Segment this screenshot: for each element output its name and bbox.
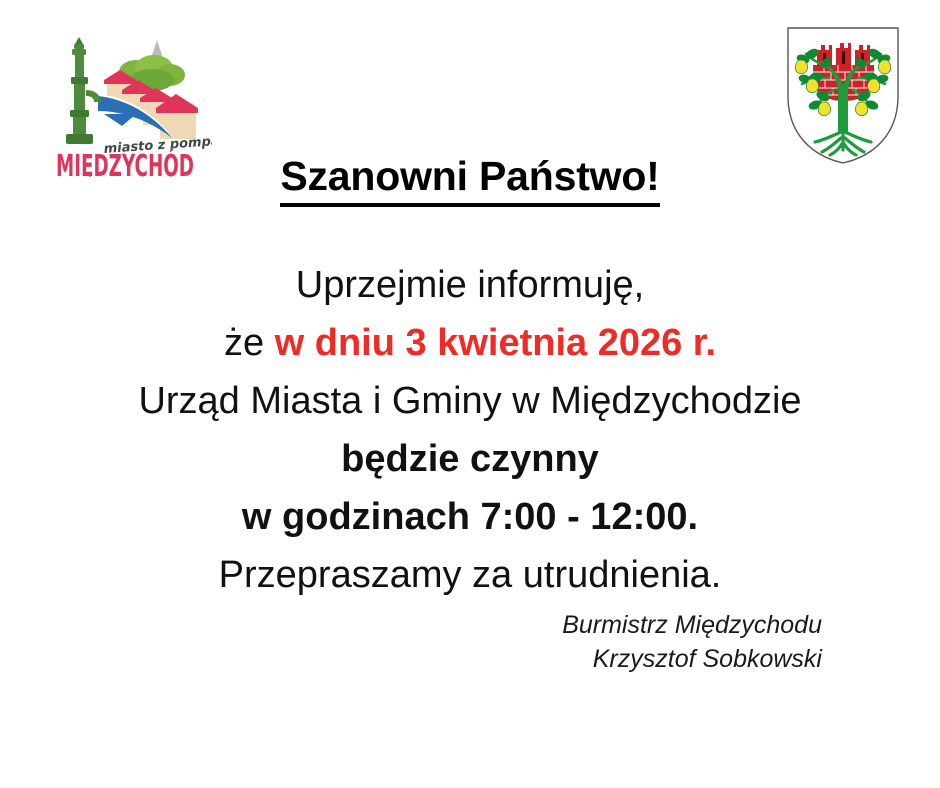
notice-date-highlight: w dniu 3 kwietnia 2026 r. <box>275 322 716 364</box>
notice-line-5: w godzinach 7:00 - 12:00. <box>0 488 940 546</box>
page-title-text: Szanowni Państwo! <box>280 153 659 207</box>
notice-line-2-prefix: że <box>224 322 275 364</box>
notice-line-6: Przepraszamy za utrudnienia. <box>0 546 940 604</box>
signature-name: Krzysztof Sobkowski <box>0 642 822 676</box>
notice-line-2: że w dniu 3 kwietnia 2026 r. <box>0 314 940 372</box>
page-title: Szanowni Państwo! <box>0 153 940 207</box>
notice-body: Uprzejmie informuję, że w dniu 3 kwietni… <box>0 256 940 604</box>
notice-line-1: Uprzejmie informuję, <box>0 256 940 314</box>
announcement-poster: miasto z pompą MIĘDZYCHÓD <box>0 0 940 788</box>
notice-line-3: Urząd Miasta i Gminy w Międzychodzie <box>0 372 940 430</box>
signature-title: Burmistrz Międzychodu <box>0 608 822 642</box>
signature-block: Burmistrz Międzychodu Krzysztof Sobkowsk… <box>0 608 822 676</box>
notice-line-4: będzie czynny <box>0 430 940 488</box>
notice-content: Szanowni Państwo! Uprzejmie informuję, ż… <box>0 0 940 788</box>
